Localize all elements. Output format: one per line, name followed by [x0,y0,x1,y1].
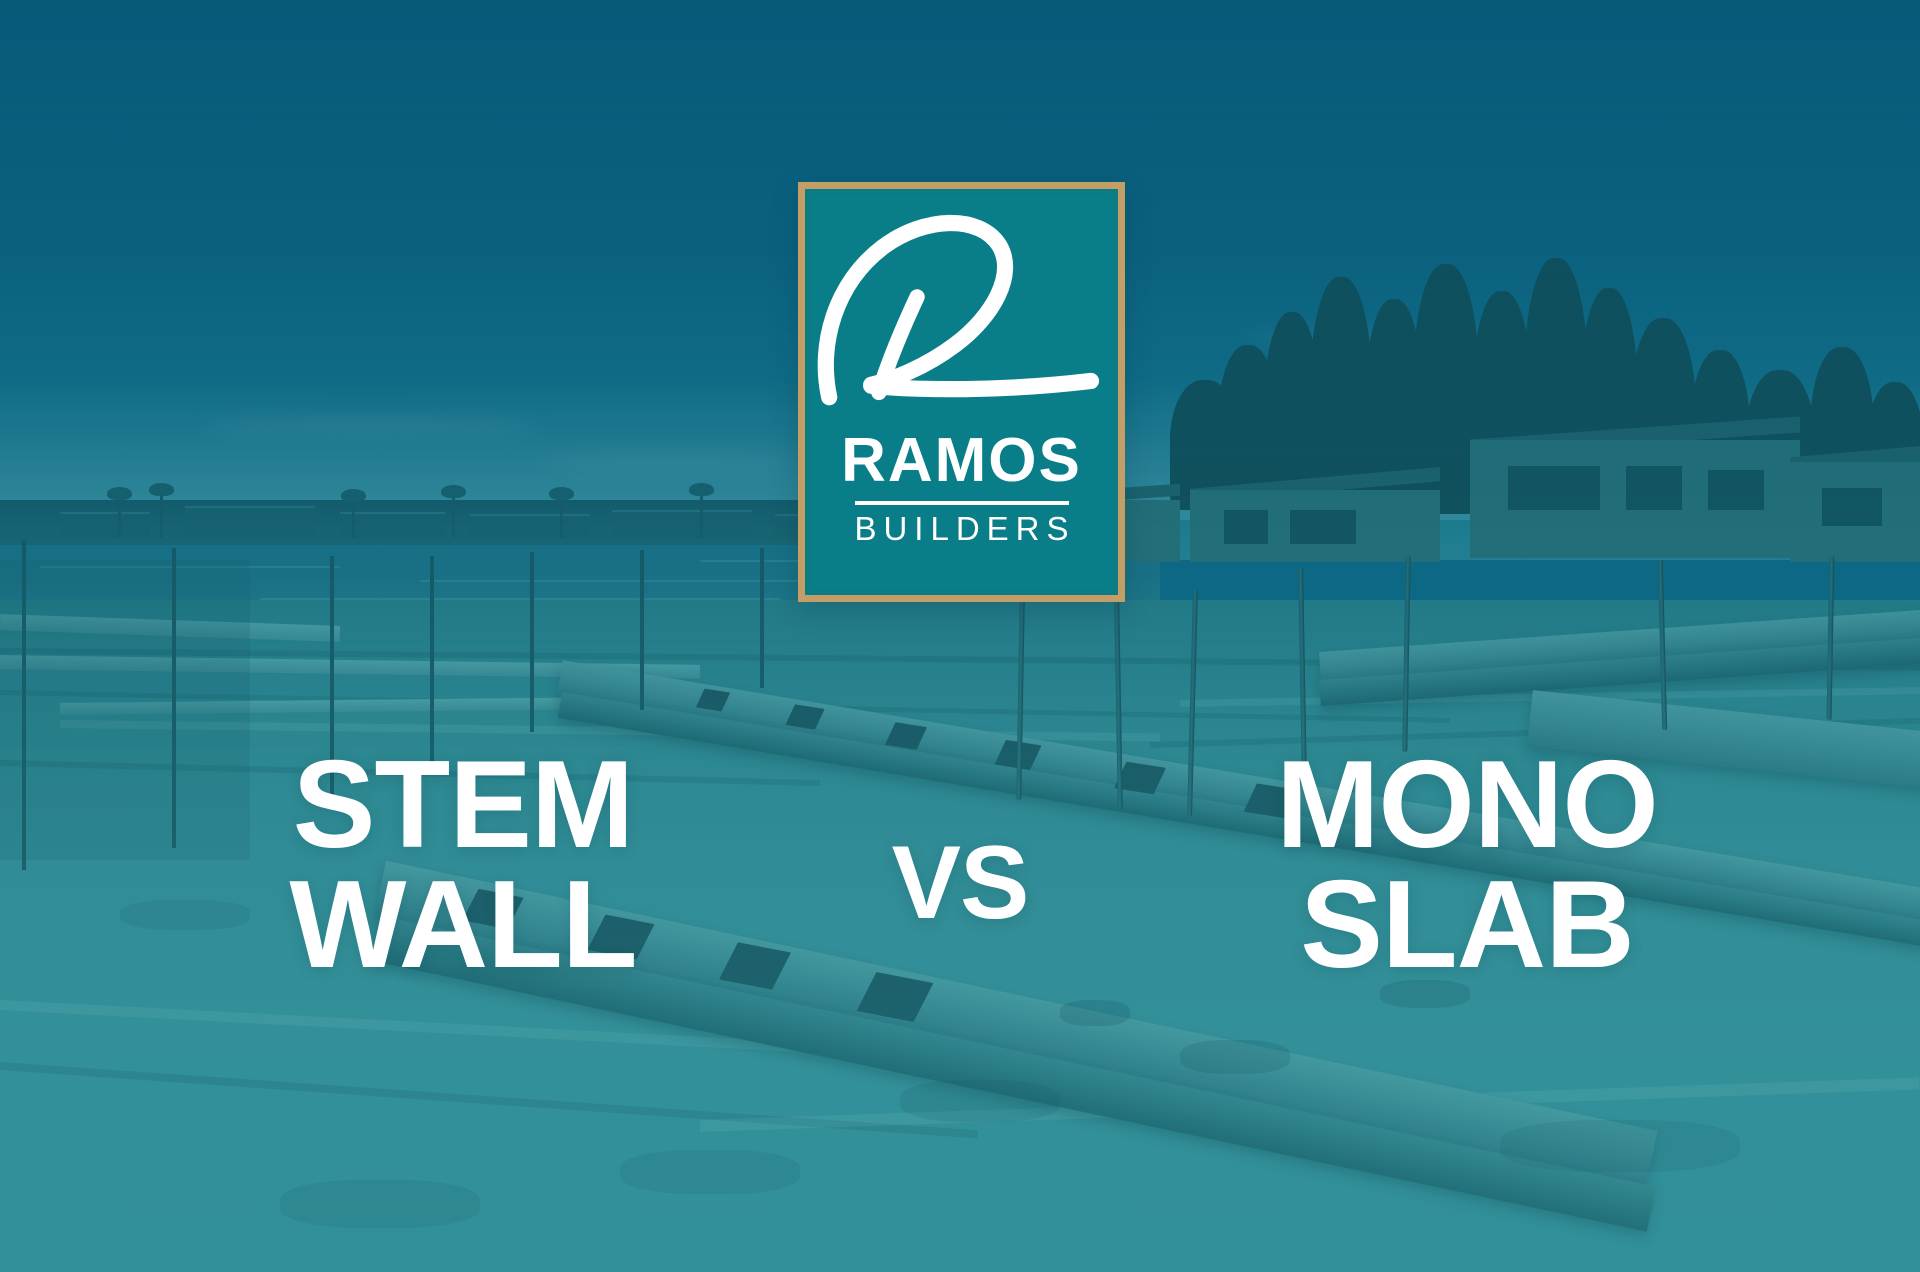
poster-canvas: RAMOS BUILDERS STEM WALL VS MONO SLAB [0,0,1920,1272]
logo-subtitle: BUILDERS [847,512,1075,545]
logo-wordmark: RAMOS [841,430,1082,492]
ramos-builders-logo: RAMOS BUILDERS [798,182,1125,602]
script-r-monogram-icon [812,196,1111,436]
logo-divider [855,501,1069,505]
logo-panel: RAMOS BUILDERS [812,196,1111,588]
